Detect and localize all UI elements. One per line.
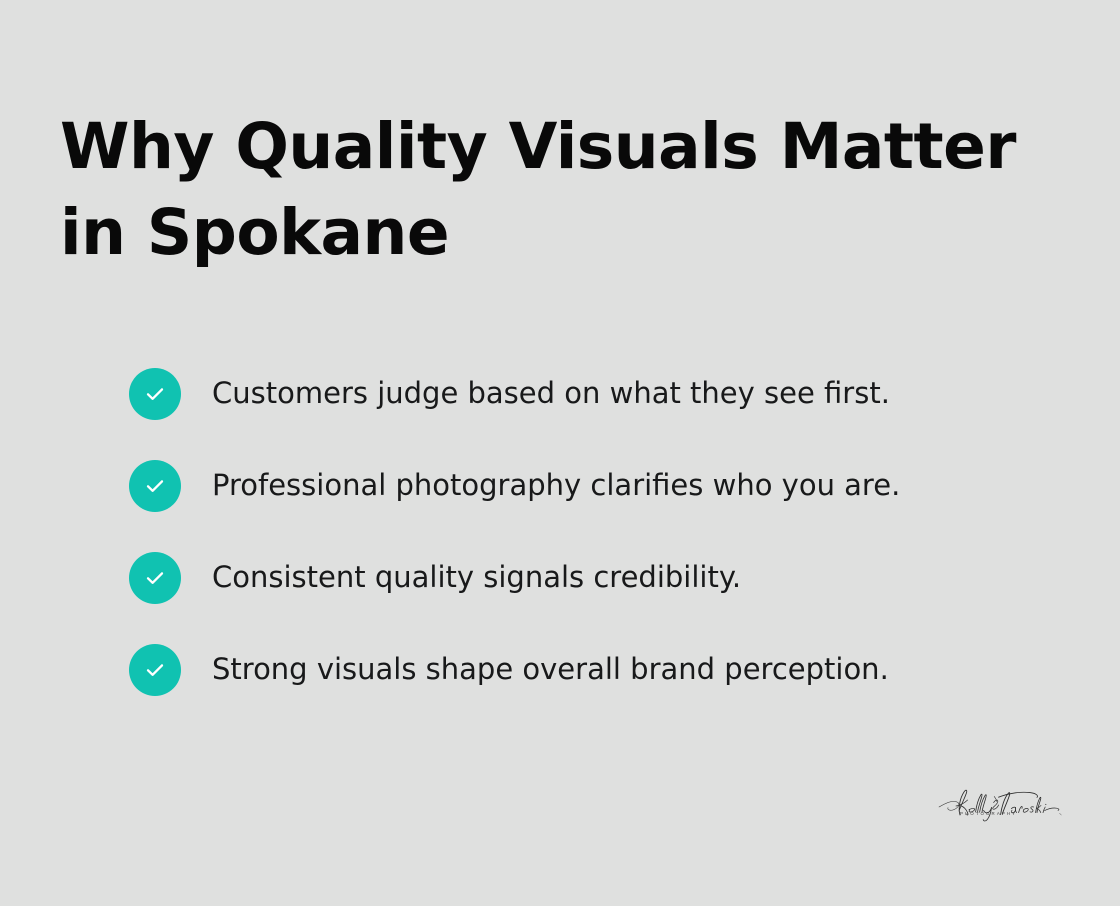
check-circle-icon: [129, 552, 181, 604]
list-item-label: Consistent quality signals credibility.: [212, 562, 741, 594]
brand-signature-logo: PHOTOGRAPHY: [938, 784, 1062, 824]
list-item: Consistent quality signals credibility.: [129, 552, 1029, 604]
list-item: Strong visuals shape overall brand perce…: [129, 644, 1029, 696]
list-item-label: Strong visuals shape overall brand perce…: [212, 654, 889, 686]
list-item-label: Professional photography clarifies who y…: [212, 470, 900, 502]
list-item-label: Customers judge based on what they see f…: [212, 378, 890, 410]
benefits-list: Customers judge based on what they see f…: [129, 368, 1029, 696]
list-item: Customers judge based on what they see f…: [129, 368, 1029, 420]
check-circle-icon: [129, 368, 181, 420]
title-block: Why Quality Visuals Matter in Spokane: [60, 104, 1030, 276]
brand-wordmark: PHOTOGRAPHY: [960, 811, 1017, 816]
check-circle-icon: [129, 460, 181, 512]
page-title: Why Quality Visuals Matter in Spokane: [60, 104, 1030, 276]
check-circle-icon: [129, 644, 181, 696]
slide-canvas: Why Quality Visuals Matter in Spokane Cu…: [0, 0, 1120, 906]
list-item: Professional photography clarifies who y…: [129, 460, 1029, 512]
